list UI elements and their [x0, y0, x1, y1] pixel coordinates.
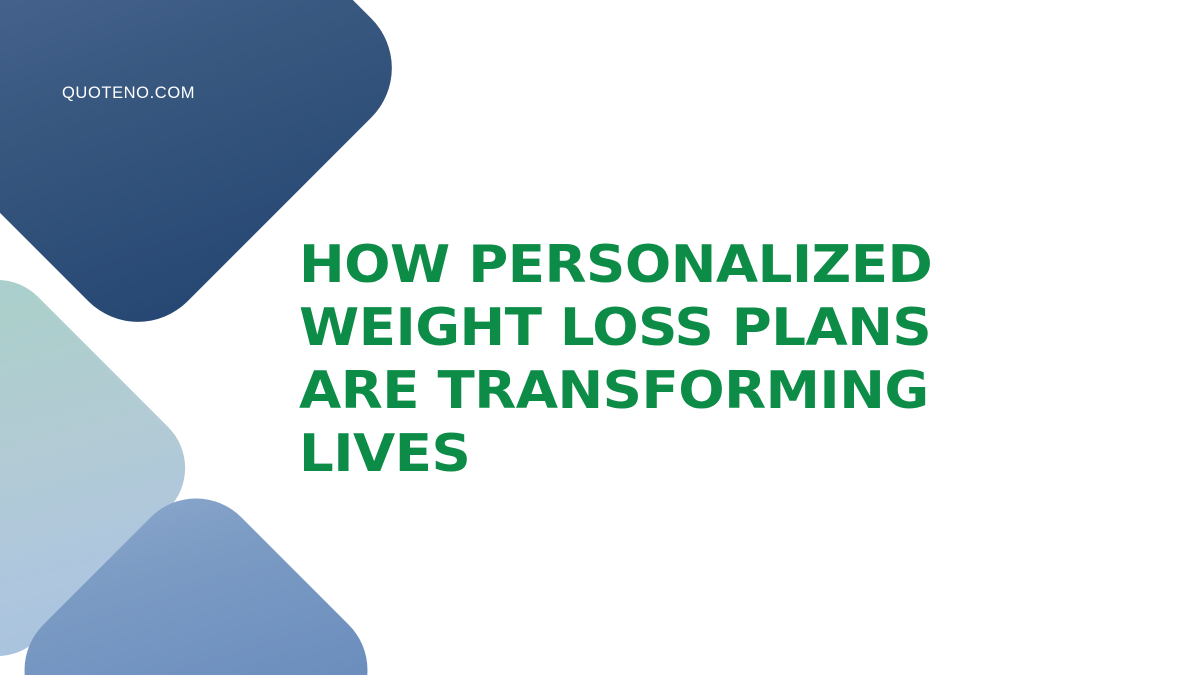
- headline-line-2: WEIGHT LOSS PLANS: [299, 297, 1034, 360]
- headline-line-3: ARE TRANSFORMING: [299, 360, 1034, 423]
- headline-line-4: LIVES: [299, 423, 1034, 486]
- page-title: HOW PERSONALIZED WEIGHT LOSS PLANS ARE T…: [299, 234, 1034, 486]
- brand-watermark: QUOTENO.COM: [62, 85, 195, 102]
- blue-diamond-shape: [0, 472, 394, 675]
- teal-diamond-shape: [0, 256, 209, 675]
- headline-line-1: HOW PERSONALIZED: [299, 234, 1034, 297]
- title-card-canvas: QUOTENO.COM HOW PERSONALIZED WEIGHT LOSS…: [0, 0, 1200, 675]
